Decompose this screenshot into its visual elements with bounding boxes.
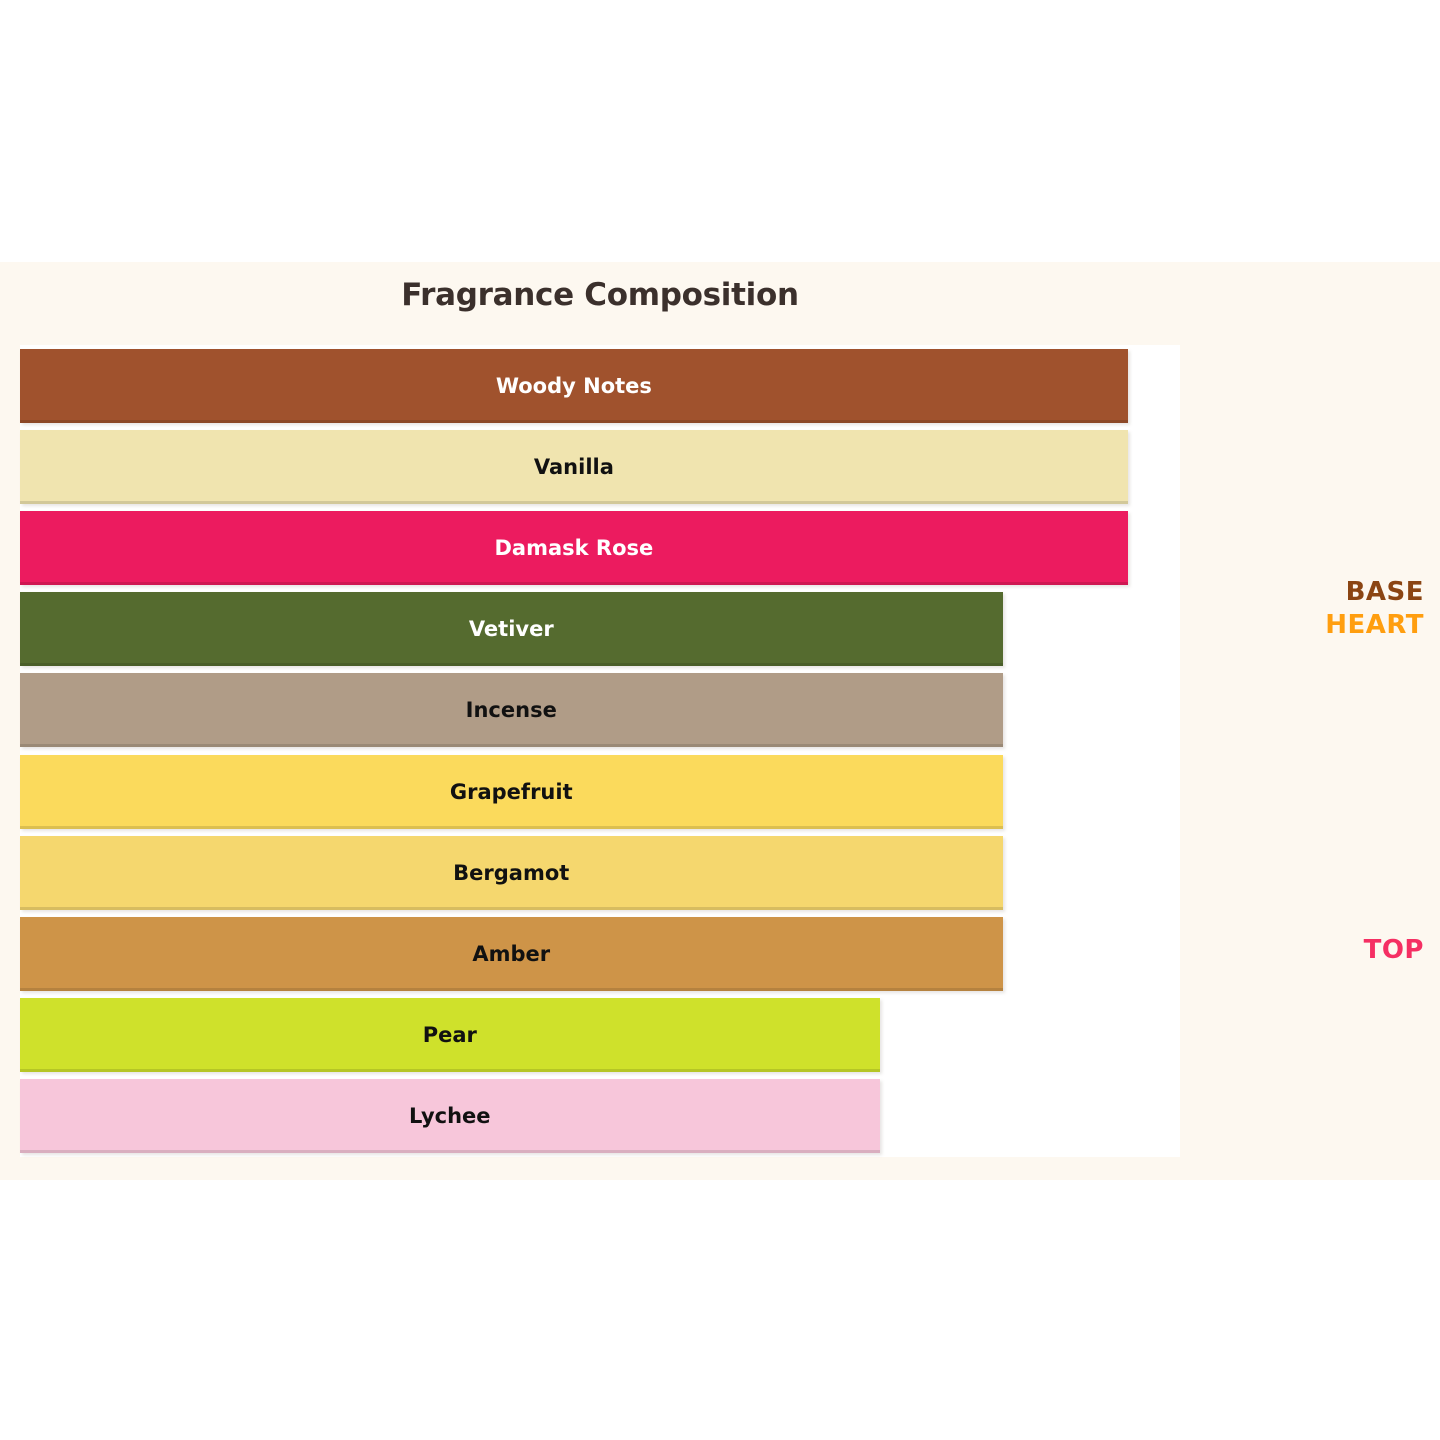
legend-item-base[interactable]: BASE — [1346, 577, 1424, 607]
chart-figure: Fragrance Composition Woody NotesVanilla… — [0, 262, 1440, 1180]
bar-row: Woody Notes — [20, 349, 1180, 423]
bar-amber[interactable] — [20, 917, 1003, 991]
legend-item-heart[interactable]: HEART — [1325, 610, 1424, 640]
plot-area: Woody NotesVanillaDamask RoseVetiverInce… — [20, 345, 1180, 1157]
bar-incense[interactable] — [20, 673, 1003, 747]
bar-row: Incense — [20, 673, 1180, 747]
bar-row: Vanilla — [20, 430, 1180, 504]
bar-vanilla[interactable] — [20, 430, 1128, 504]
bar-pear[interactable] — [20, 998, 880, 1072]
bar-row: Vetiver — [20, 592, 1180, 666]
bar-lychee[interactable] — [20, 1079, 880, 1153]
bar-damask-rose[interactable] — [20, 511, 1128, 585]
bar-row: Damask Rose — [20, 511, 1180, 585]
chart-legend: BASE HEART TOP — [1200, 262, 1440, 1180]
bar-vetiver[interactable] — [20, 592, 1003, 666]
bar-row: Bergamot — [20, 836, 1180, 910]
chart-title: Fragrance Composition — [0, 277, 1200, 313]
bar-row: Pear — [20, 998, 1180, 1072]
bar-row: Amber — [20, 917, 1180, 991]
legend-item-top[interactable]: TOP — [1364, 935, 1424, 965]
bar-woody-notes[interactable] — [20, 349, 1128, 423]
bar-row: Grapefruit — [20, 755, 1180, 829]
bar-row: Lychee — [20, 1079, 1180, 1153]
bar-grapefruit[interactable] — [20, 755, 1003, 829]
bar-bergamot[interactable] — [20, 836, 1003, 910]
